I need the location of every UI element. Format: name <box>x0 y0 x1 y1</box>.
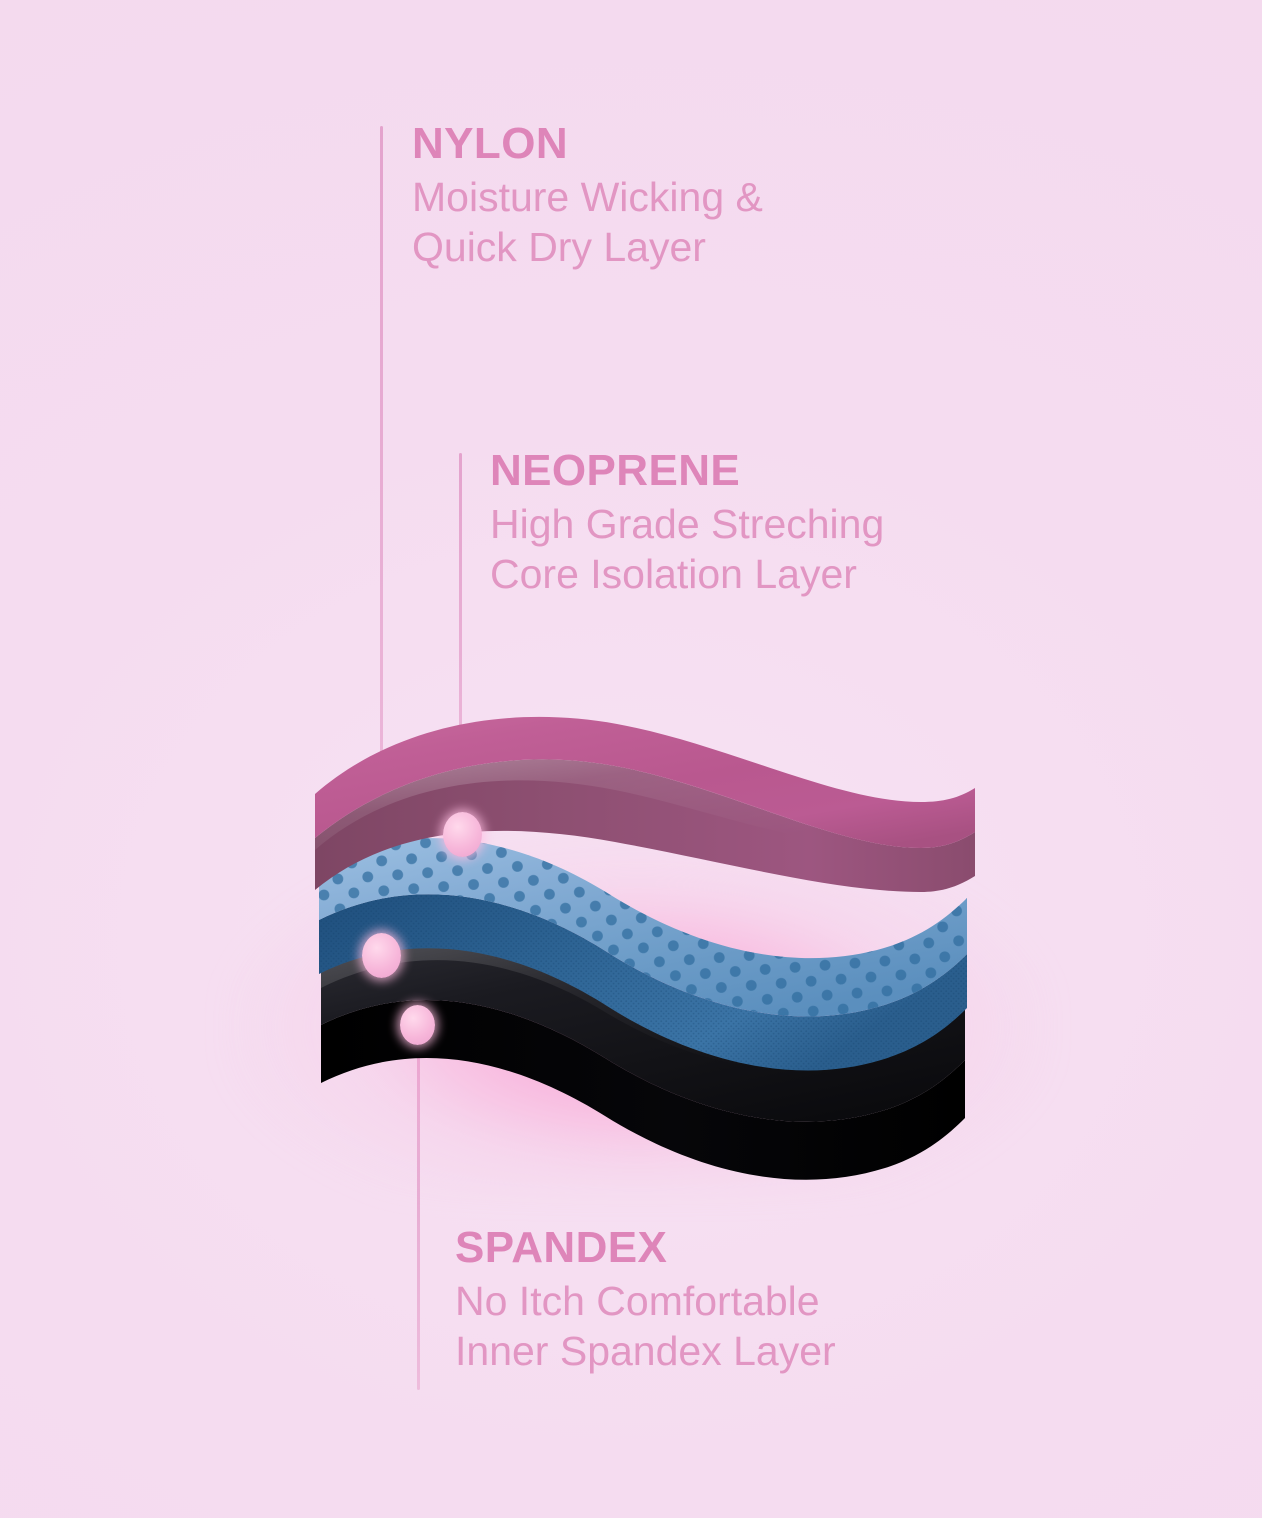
callout-dot-nylon[interactable] <box>362 933 401 978</box>
callout-spandex-line2: Inner Spandex Layer <box>455 1326 836 1376</box>
callout-spandex: SPANDEX No Itch Comfortable Inner Spande… <box>455 1226 836 1376</box>
callout-neoprene-line2: Core Isolation Layer <box>490 549 884 599</box>
callout-nylon-line2: Quick Dry Layer <box>412 222 763 272</box>
callout-nylon: NYLON Moisture Wicking & Quick Dry Layer <box>412 122 763 272</box>
callout-dot-spandex[interactable] <box>400 1005 435 1045</box>
callout-spandex-heading: SPANDEX <box>455 1226 836 1270</box>
callout-neoprene: NEOPRENE High Grade Streching Core Isola… <box>490 449 884 599</box>
callout-spandex-line1: No Itch Comfortable <box>455 1276 836 1326</box>
callout-nylon-heading: NYLON <box>412 122 763 166</box>
callout-neoprene-line1: High Grade Streching <box>490 499 884 549</box>
callout-neoprene-heading: NEOPRENE <box>490 449 884 493</box>
callout-dot-neoprene[interactable] <box>443 812 482 857</box>
callout-nylon-line1: Moisture Wicking & <box>412 172 763 222</box>
infographic-canvas: NYLON Moisture Wicking & Quick Dry Layer… <box>0 0 1262 1518</box>
